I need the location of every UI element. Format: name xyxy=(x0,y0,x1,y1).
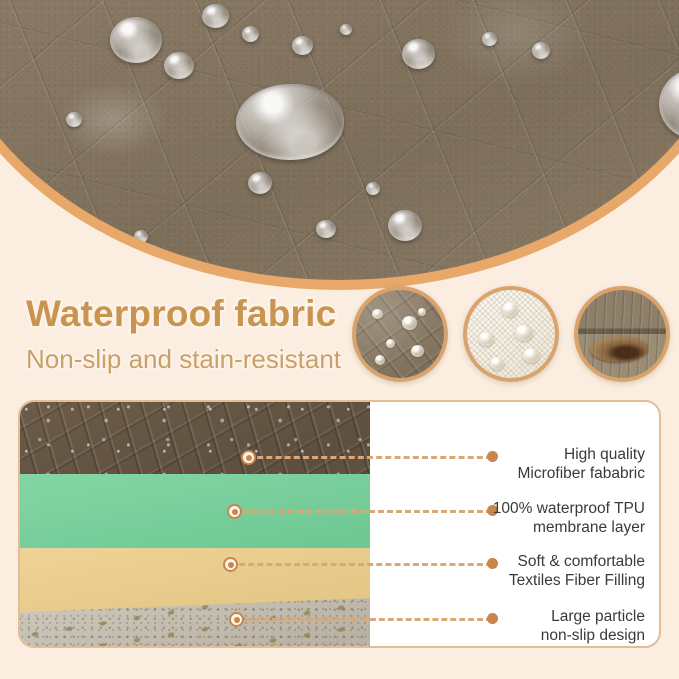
water-droplet xyxy=(242,26,259,42)
fabric-grain-texture xyxy=(0,0,679,280)
layer-construction-diagram: High quality Microfiber fababric 100% wa… xyxy=(18,400,661,648)
hero-photo-section xyxy=(0,0,679,300)
connector-line-1 xyxy=(248,456,492,459)
water-bead xyxy=(515,325,533,341)
hero-photo-image xyxy=(0,0,679,280)
water-droplet xyxy=(236,84,344,160)
callout-line-2: membrane layer xyxy=(493,518,645,537)
water-bead xyxy=(479,332,494,346)
water-droplet xyxy=(402,39,435,69)
water-bead xyxy=(411,345,424,357)
connector-line-4 xyxy=(236,618,492,621)
callout-line-2: Textiles Fiber Filling xyxy=(509,571,645,590)
water-droplet xyxy=(202,4,229,28)
water-bead xyxy=(502,302,518,317)
connector-line-3 xyxy=(230,563,492,566)
water-droplet xyxy=(366,182,380,195)
infographic-root: Waterproof fabric Non-slip and stain-res… xyxy=(0,0,679,679)
water-droplet xyxy=(316,220,336,238)
water-droplet xyxy=(164,52,194,79)
callout-line-1: Large particle xyxy=(541,607,645,626)
callout-line-1: 100% waterproof TPU xyxy=(493,499,645,518)
water-droplet xyxy=(292,36,313,55)
callout-line-2: non-slip design xyxy=(541,626,645,645)
callout-label-top-fabric: High quality Microfiber fababric xyxy=(518,445,646,483)
callout-line-1: Soft & comfortable xyxy=(509,552,645,571)
page-title: Waterproof fabric xyxy=(26,293,336,335)
water-droplet xyxy=(248,172,272,194)
layer-marker-4 xyxy=(229,612,244,627)
water-bead xyxy=(375,355,385,365)
callout-dot-1 xyxy=(487,451,498,462)
water-droplet xyxy=(482,32,497,46)
water-bead xyxy=(523,348,540,363)
callout-line-1: High quality xyxy=(518,445,646,464)
callout-label-non-slip-base: Large particle non-slip design xyxy=(541,607,645,645)
callout-label-tpu-membrane: 100% waterproof TPU membrane layer xyxy=(493,499,645,537)
fabric-ridge-texture xyxy=(578,290,666,378)
water-bead xyxy=(418,308,426,316)
water-bead xyxy=(490,357,504,370)
water-bead xyxy=(372,309,383,319)
layer-marker-3 xyxy=(223,557,238,572)
water-droplet xyxy=(388,210,422,241)
layer-marker-2 xyxy=(227,504,242,519)
water-droplet xyxy=(532,42,550,59)
callout-label-fiber-filling: Soft & comfortable Textiles Fiber Fillin… xyxy=(509,552,645,590)
water-bead xyxy=(386,339,395,348)
water-droplet xyxy=(134,230,148,243)
inset-water-beading-on-fabric xyxy=(352,286,448,382)
water-droplet xyxy=(110,17,162,63)
water-droplet xyxy=(340,24,352,35)
water-bead xyxy=(402,316,417,330)
callout-dot-3 xyxy=(487,558,498,569)
inset-droplets-on-white-textile xyxy=(463,286,559,382)
water-droplet xyxy=(66,112,82,127)
callout-dot-4 xyxy=(487,613,498,624)
layer-marker-1 xyxy=(241,450,256,465)
connector-line-2 xyxy=(234,510,492,513)
inset-liquid-stain-repelled xyxy=(574,286,670,382)
callout-line-2: Microfiber fababric xyxy=(518,464,646,483)
page-subtitle: Non-slip and stain-resistant xyxy=(26,344,341,375)
